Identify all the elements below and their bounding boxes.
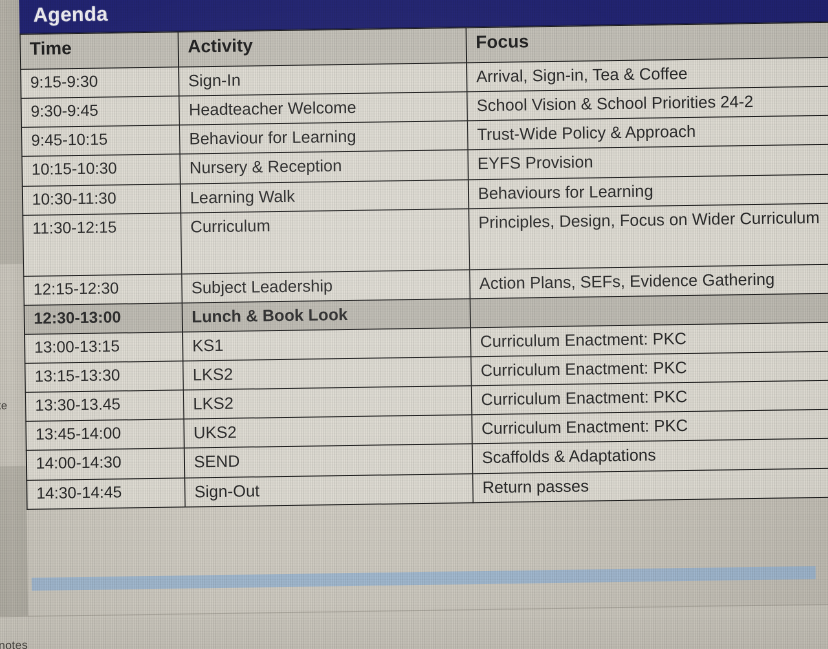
notes-label: notes: [0, 640, 28, 649]
cell-time: 14:30-14:45: [27, 477, 185, 508]
cell-activity: Learning Walk: [180, 179, 468, 212]
page-title: Agenda: [33, 4, 108, 28]
cell-time: 13:30-13.45: [25, 390, 183, 421]
column-header-focus: Focus: [466, 22, 828, 63]
cell-time: 10:15-10:30: [22, 154, 180, 185]
cell-activity: SEND: [184, 444, 472, 477]
cell-time: 13:45-14:00: [26, 419, 184, 450]
column-header-time: Time: [20, 32, 179, 69]
cell-time: 9:45-10:15: [21, 125, 179, 156]
cell-activity: Subject Leadership: [182, 269, 470, 302]
cell-activity: LKS2: [183, 386, 471, 419]
cell-time: 14:00-14:30: [26, 448, 184, 479]
cell-time: 9:30-9:45: [21, 96, 179, 127]
cell-focus: Principles, Design, Focus on Wider Curri…: [469, 203, 828, 270]
photographed-screen: bert an an e /Kate a Agenda: [0, 0, 828, 649]
cell-activity: Sign-In: [179, 63, 467, 96]
cell-time: 9:15-9:30: [21, 67, 179, 98]
pane-shade-lower: [0, 466, 28, 617]
slide-page: bert an an e /Kate a Agenda: [0, 0, 828, 616]
cell-activity: Nursery & Reception: [180, 150, 468, 183]
cell-activity: KS1: [183, 328, 471, 361]
agenda-table: Time Activity Focus 9:15-9:30 Sign-In Ar…: [20, 22, 828, 510]
cell-activity: UKS2: [184, 415, 472, 448]
cell-activity: Behaviour for Learning: [179, 121, 467, 154]
cell-activity: Headteacher Welcome: [179, 92, 467, 125]
clipped-label: /Kate: [0, 400, 7, 412]
cell-focus: Return passes: [473, 468, 828, 503]
cell-time: 10:30-11:30: [22, 184, 180, 215]
cell-time: 12:15-12:30: [24, 274, 182, 305]
cell-activity: Sign-Out: [185, 473, 473, 506]
cell-activity: LKS2: [183, 357, 471, 390]
column-header-activity: Activity: [178, 28, 466, 67]
cell-time: 13:00-13:15: [25, 332, 183, 363]
cell-time: 13:15-13:30: [25, 361, 183, 392]
screen-content: bert an an e /Kate a Agenda: [0, 0, 828, 649]
cell-activity: Curriculum: [181, 208, 470, 273]
slide-content-area: Agenda Time Activity Focus: [19, 0, 828, 616]
cell-activity: Lunch & Book Look: [182, 298, 470, 331]
cell-time: 11:30-12:15: [23, 213, 182, 276]
cell-time: 12:30-13:00: [24, 303, 182, 334]
